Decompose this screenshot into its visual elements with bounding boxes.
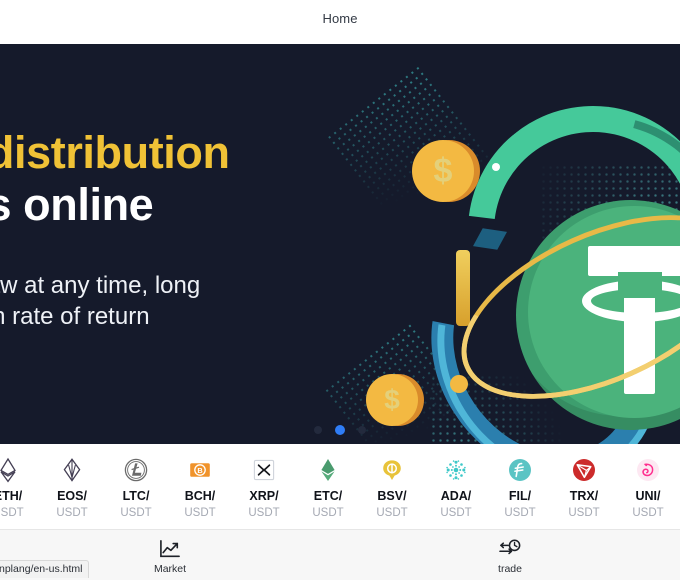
market-chart-icon (158, 538, 182, 560)
svg-text:B: B (197, 466, 202, 475)
ltc-icon (123, 457, 149, 483)
ticker-symbol: BCH/ (185, 490, 216, 504)
ticker-quote-currency: USDT (568, 507, 599, 520)
hero-banner[interactable]: $ $ Dividend distribution function is on… (0, 44, 680, 444)
ticker-item-bsv[interactable]: BSV/USDT (360, 444, 424, 519)
ticker-quote-currency: USDT (0, 507, 24, 520)
bch-icon: B (187, 457, 213, 483)
white-dot-decoration (492, 163, 500, 171)
coin-ticker-track[interactable]: ETH/USDTEOS/USDTLTC/USDTBBCH/USDTXRP/USD… (0, 444, 680, 529)
ticker-quote-currency: USDT (56, 507, 87, 520)
dollar-coin-icon: $ (412, 140, 482, 202)
dollar-coin-icon: $ (366, 374, 424, 426)
ticker-item-ada[interactable]: ADA/USDT (424, 444, 488, 519)
bottom-tab-bar[interactable]: Market trade (0, 529, 680, 580)
coin-ticker-strip[interactable]: ETH/USDTEOS/USDTLTC/USDTBBCH/USDTXRP/USD… (0, 444, 680, 529)
ticker-item-ltc[interactable]: LTC/USDT (104, 444, 168, 519)
ticker-item-eos[interactable]: EOS/USDT (40, 444, 104, 519)
ticker-quote-currency: USDT (248, 507, 279, 520)
banner-carousel-dots[interactable] (0, 425, 680, 435)
top-header: Home (0, 0, 680, 37)
header-divider (0, 37, 680, 44)
ticker-symbol: LTC/ (123, 490, 150, 504)
ticker-quote-currency: USDT (376, 507, 407, 520)
gold-dot-decoration (450, 375, 468, 393)
xrp-icon (251, 457, 277, 483)
ada-icon (443, 457, 469, 483)
carousel-dot-1[interactable] (314, 426, 322, 434)
ticker-quote-currency: USDT (184, 507, 215, 520)
ticker-symbol: BSV/ (377, 490, 406, 504)
ticker-item-xrp[interactable]: XRP/USDT (232, 444, 296, 519)
ticker-symbol: UNI/ (636, 490, 661, 504)
tab-trade-label: trade (498, 563, 522, 575)
ticker-quote-currency: USDT (632, 507, 663, 520)
carousel-dot-2-active[interactable] (335, 425, 345, 435)
tab-market-label: Market (154, 563, 186, 575)
ticker-symbol: XRP/ (249, 490, 278, 504)
ticker-symbol: FIL/ (509, 490, 531, 504)
ticker-item-fil[interactable]: FIL/USDT (488, 444, 552, 519)
trade-clock-icon (498, 538, 522, 560)
trx-icon (571, 457, 597, 483)
bsv-icon (379, 457, 405, 483)
ticker-quote-currency: USDT (312, 507, 343, 520)
page-title: Home (322, 11, 357, 26)
ticker-item-etc[interactable]: ETC/USDT (296, 444, 360, 519)
ticker-symbol: ETC/ (314, 490, 342, 504)
ticker-item-bch[interactable]: BBCH/USDT (168, 444, 232, 519)
uni-icon (635, 457, 661, 483)
ticker-symbol: ADA/ (441, 490, 472, 504)
gold-bar-decoration (456, 250, 470, 326)
eth-icon (0, 457, 21, 483)
banner-copy: Dividend distribution function is online… (0, 130, 388, 333)
banner-subtext-line2: term stable and high rate of return (0, 301, 388, 333)
tab-trade[interactable]: trade (340, 530, 680, 580)
ticker-quote-currency: USDT (504, 507, 535, 520)
carousel-dot-3[interactable] (358, 426, 366, 434)
ticker-quote-currency: USDT (440, 507, 471, 520)
ticker-symbol: ETH/ (0, 490, 22, 504)
ticker-item-trx[interactable]: TRX/USDT (552, 444, 616, 519)
banner-headline-accent: Dividend distribution (0, 130, 388, 176)
fil-icon (507, 457, 533, 483)
ticker-quote-currency: USDT (120, 507, 151, 520)
banner-subtext-line1: Deposit and withdraw at any time, long (0, 270, 388, 302)
status-bar-url: nplang/en-us.html (0, 560, 89, 578)
ticker-item-uni[interactable]: UNI/USDT (616, 444, 680, 519)
ticker-symbol: EOS/ (57, 490, 87, 504)
etc-icon (315, 457, 341, 483)
ticker-item-eth[interactable]: ETH/USDT (0, 444, 40, 519)
eos-icon (59, 457, 85, 483)
banner-headline-plain: function is online (0, 182, 388, 228)
ticker-symbol: TRX/ (570, 490, 598, 504)
